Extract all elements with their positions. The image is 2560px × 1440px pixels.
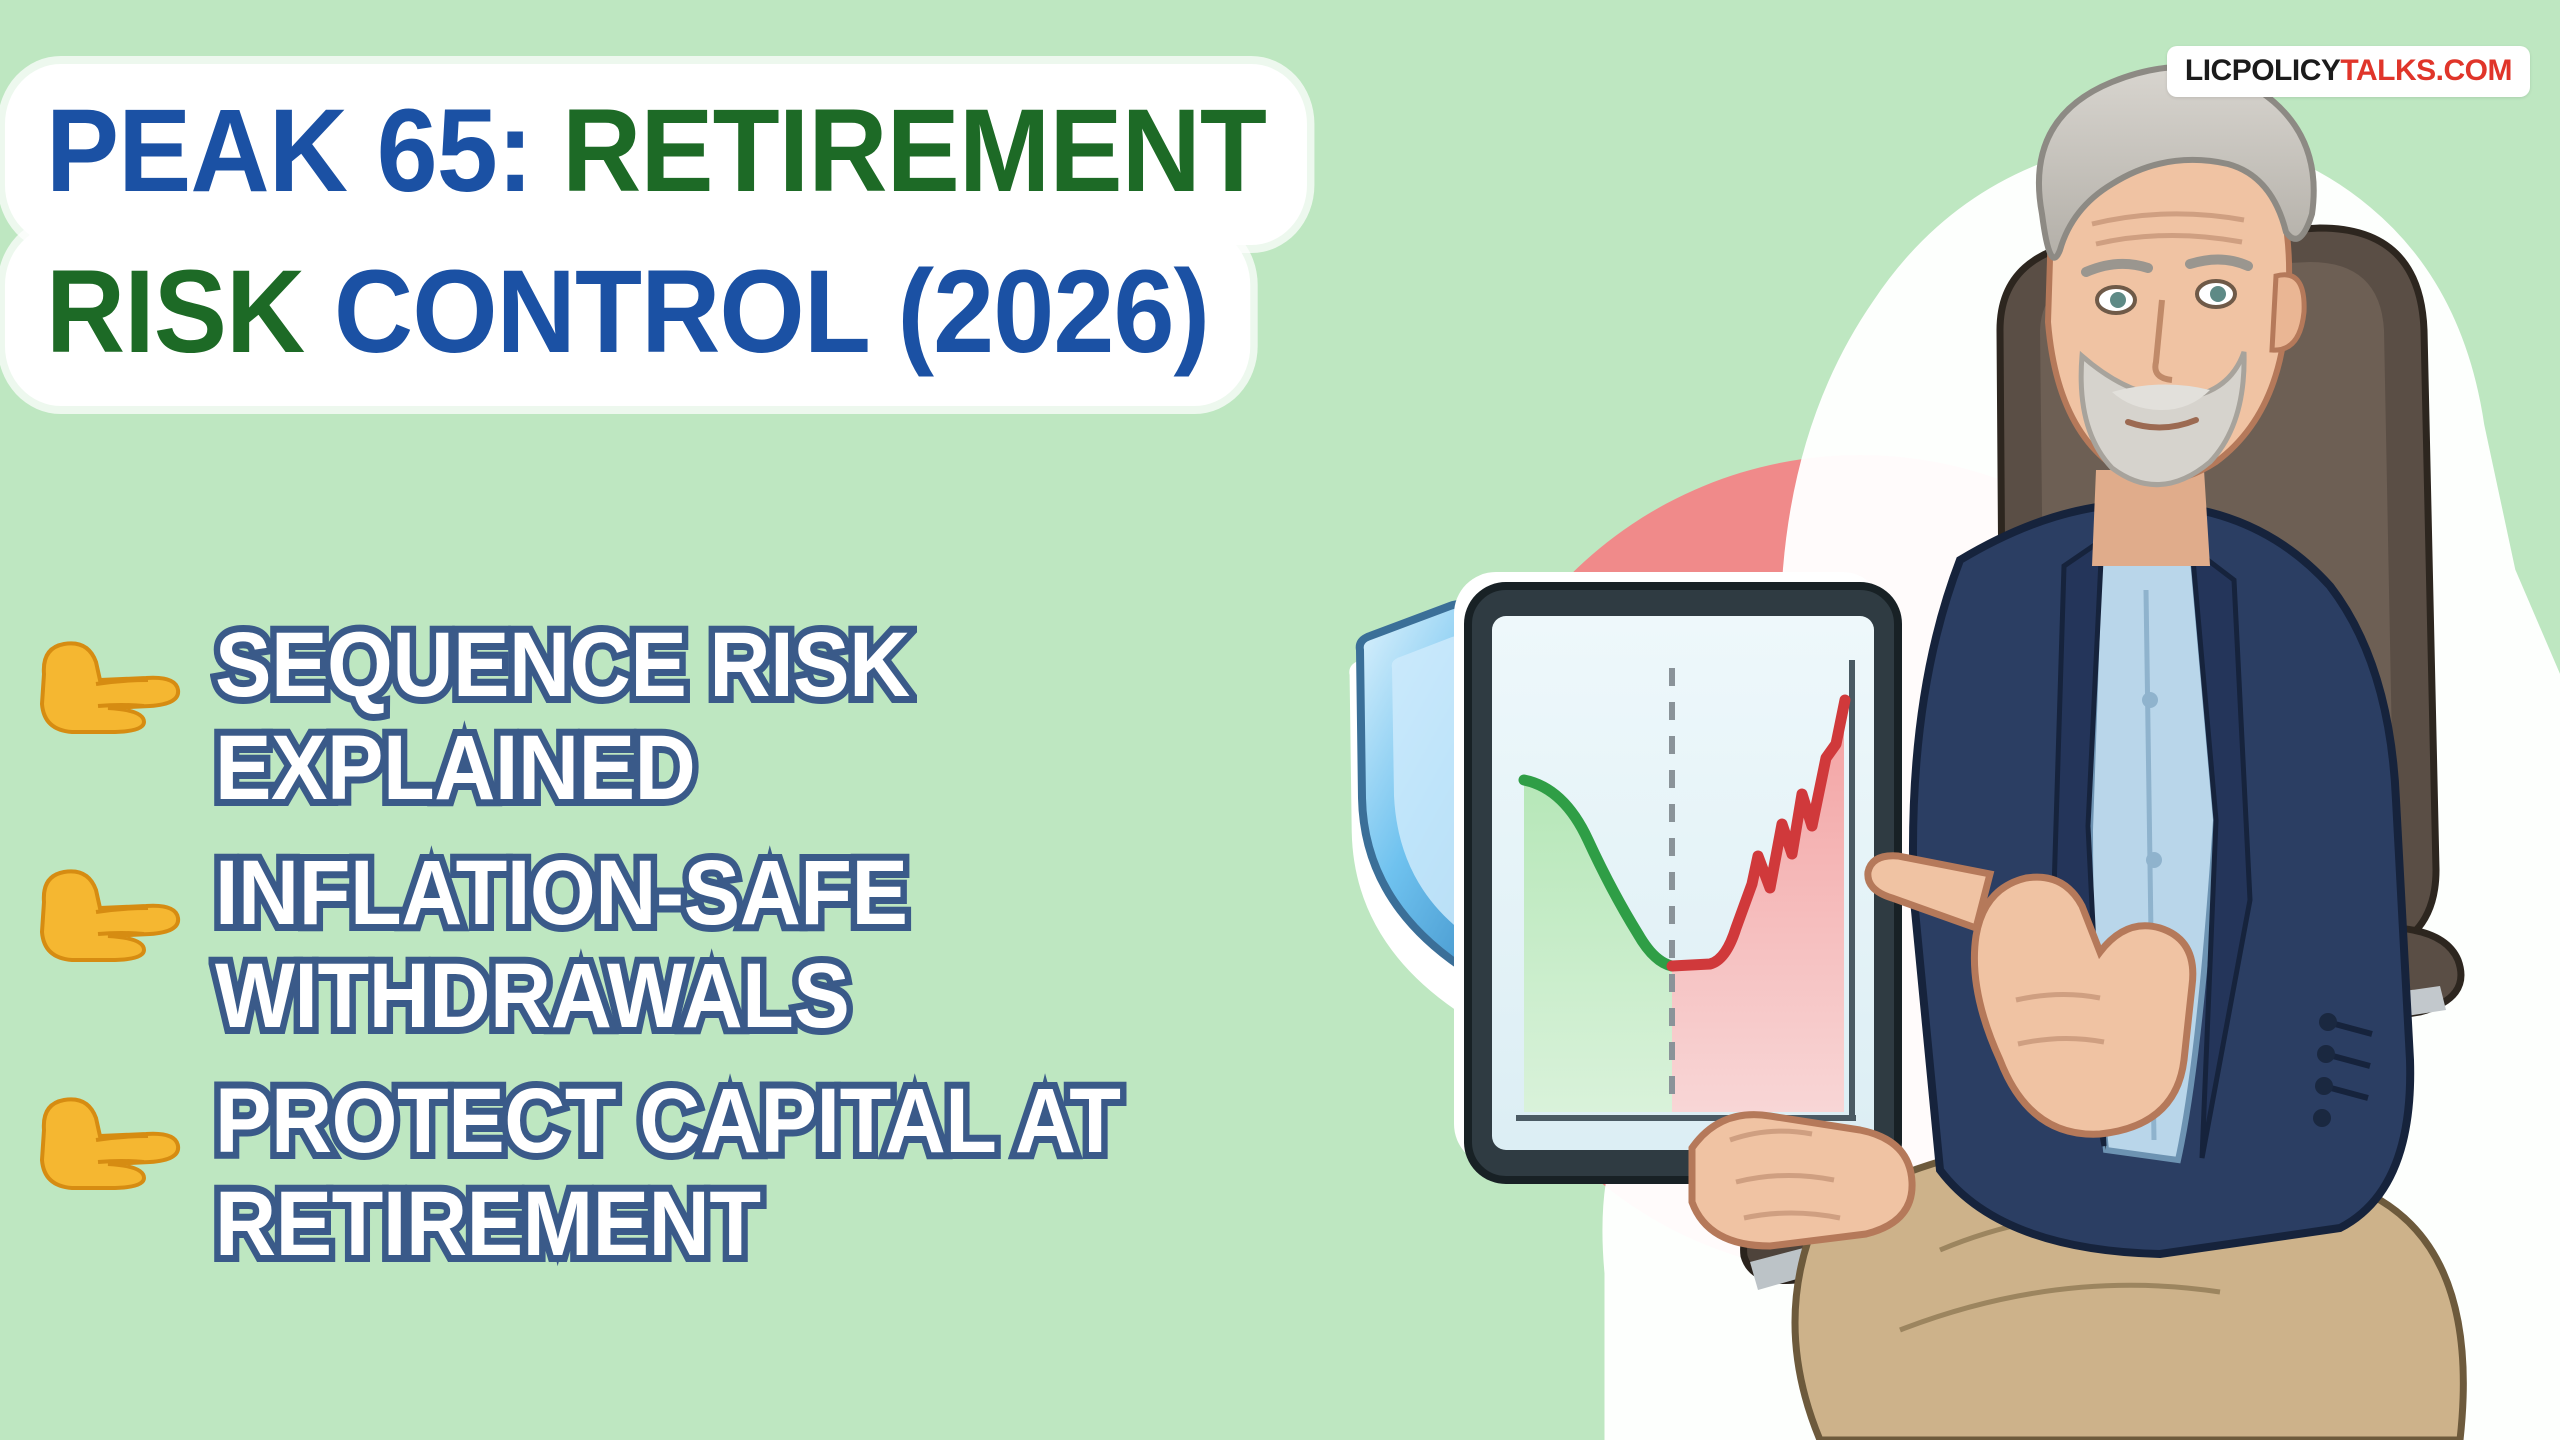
list-item-label: SEQUENCE RISK EXPLAINED (215, 610, 1348, 820)
holding-hand (1692, 1115, 1912, 1246)
list-item: SEQUENCE RISK EXPLAINED (26, 610, 1446, 820)
headline-line2-green: RISK (46, 246, 304, 378)
list-item-label: PROTECT CAPITAL AT RETIREMENT (215, 1066, 1348, 1276)
site-watermark: LICPOLICYTALKS.COM (2167, 46, 2530, 97)
headline-line-2: RISK CONTROL (2026) (18, 239, 1237, 392)
pointing-right-hand-icon (26, 856, 201, 976)
headline-line2-blue: CONTROL (2026) (304, 246, 1209, 378)
tablet-device (1454, 572, 1898, 1180)
headline-line1-green: RETIREMENT (532, 85, 1266, 217)
list-item-label: INFLATION-SAFE WITHDRAWALS (215, 838, 1348, 1048)
list-item: INFLATION-SAFE WITHDRAWALS (26, 838, 1446, 1048)
watermark-primary: LICPOLICY (2185, 54, 2341, 87)
headline-line-1: PEAK 65: RETIREMENT (18, 78, 1294, 231)
headline-line1-blue: PEAK 65: (46, 85, 533, 217)
watermark-secondary: TALKS.COM (2340, 54, 2512, 87)
pointing-right-hand-icon (26, 628, 201, 748)
headline-block: PEAK 65: RETIREMENT RISK CONTROL (2026) (18, 78, 1738, 400)
list-item: PROTECT CAPITAL AT RETIREMENT (26, 1066, 1446, 1276)
bullet-list: SEQUENCE RISK EXPLAINED INFLATION-SAFE W… (26, 610, 1446, 1294)
pointing-right-hand-icon (26, 1084, 201, 1204)
